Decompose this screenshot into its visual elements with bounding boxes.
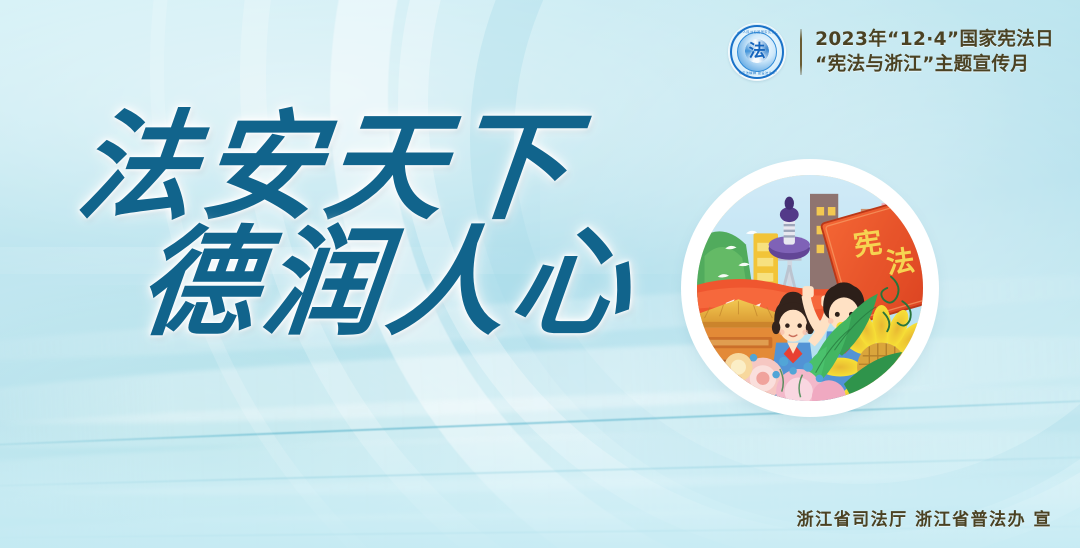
title-line-2: 德润人心: [0, 222, 626, 344]
constitution-children-artwork: 宪 法: [697, 175, 923, 401]
title-line-1: 法安天下: [0, 106, 626, 228]
emblem-micro-text-bottom: 弘扬宪法精神 建设法治中国: [729, 70, 785, 75]
page-title: 法安天下 德润人心: [0, 106, 620, 343]
emblem-micro-text-top: 中华人民共和国国家宪法日: [729, 29, 785, 34]
header-line-1: 2023年“12·4”国家宪法日: [815, 30, 1054, 50]
artwork-svg: 宪 法: [697, 175, 923, 401]
header-divider: [800, 29, 802, 75]
constitution-day-emblem-icon: 中华人民共和国国家宪法日 法 弘扬宪法精神 建设法治中国: [729, 24, 785, 80]
header-line-2: “宪法与浙江”主题宣传月: [815, 55, 1054, 75]
footer-credit: 浙江省司法厅 浙江省普法办 宣: [797, 505, 1052, 530]
illustration-frame: 宪 法: [690, 168, 930, 408]
emblem-center-glyph: 法: [729, 44, 785, 61]
poster-canvas: 中华人民共和国国家宪法日 法 弘扬宪法精神 建设法治中国 2023年“12·4”…: [0, 0, 1080, 548]
header-text-block: 2023年“12·4”国家宪法日 “宪法与浙江”主题宣传月: [815, 30, 1054, 74]
header-banner: 中华人民共和国国家宪法日 法 弘扬宪法精神 建设法治中国 2023年“12·4”…: [729, 24, 1054, 80]
